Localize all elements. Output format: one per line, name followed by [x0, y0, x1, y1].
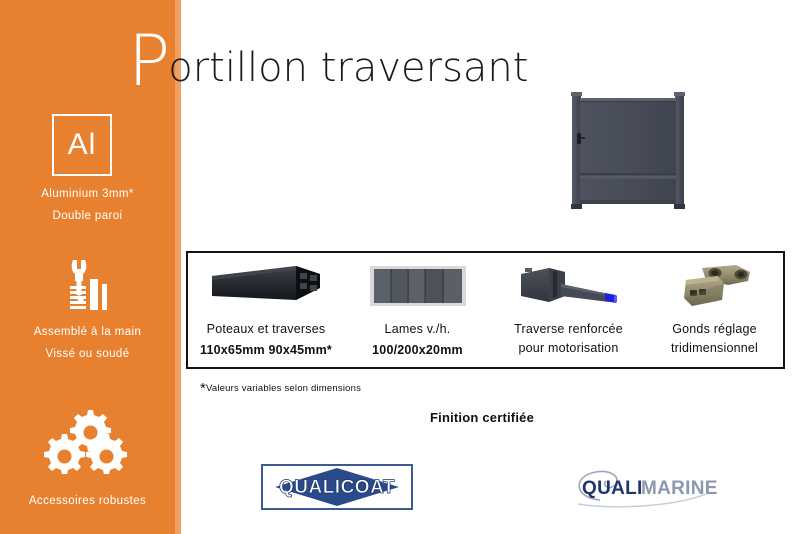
features-panel: Poteaux et traverses 110x65mm 90x45mm*: [186, 251, 785, 369]
feature-item-slats-subtitle: 100/200x20mm: [344, 342, 491, 358]
sidebar-item-aluminium-line1: Aluminium 3mm*: [0, 186, 175, 203]
sidebar-item-aluminium: Aluminium 3mm* Double paroi: [0, 186, 175, 225]
svg-text:QUALICOAT: QUALICOAT: [279, 477, 395, 498]
page-title-initial: P: [128, 26, 170, 96]
sidebar-item-accessories-line1: Accessoires robustes: [0, 493, 175, 510]
svg-text:MARINE: MARINE: [641, 478, 718, 499]
wrench-assembly-icon: [0, 258, 175, 321]
sidebar-item-assembly-line1: Assemblé à la main: [0, 324, 175, 341]
feature-item-hinges-subtitle: tridimensionnel: [646, 340, 783, 356]
feature-item-reinforced-beam-title: Traverse renforcée: [491, 321, 646, 337]
sidebar-item-aluminium-line2: Double paroi: [0, 208, 175, 225]
feature-item-hinges-title: Gonds réglage: [646, 321, 783, 337]
slats-photo: [344, 257, 491, 315]
feature-item-posts-subtitle: 110x65mm 90x45mm*: [188, 342, 344, 358]
feature-item-reinforced-beam-subtitle: pour motorisation: [491, 340, 646, 356]
certified-finish-label: Finition certifiée: [430, 410, 534, 425]
footnote-text: Valeurs variables selon dimensions: [206, 383, 361, 394]
footnote-star: *: [200, 380, 206, 397]
aluminium-box-icon: Al: [52, 114, 112, 176]
feature-item-posts-title: Poteaux et traverses: [188, 321, 344, 337]
svg-text:QUALI: QUALI: [582, 478, 643, 499]
sidebar-item-assembly: Assemblé à la main Vissé ou soudé: [0, 324, 175, 363]
slide-root: Al Aluminium 3mm* Double paroi Assemblé …: [0, 0, 800, 534]
reinforced-beam-motor-photo: [491, 257, 646, 315]
page-title: P ortillon traversant: [128, 22, 528, 84]
sidebar-item-assembly-line2: Vissé ou soudé: [0, 346, 175, 363]
page-title-rest: ortillon traversant: [168, 48, 528, 88]
feature-item-slats-title: Lames v./h.: [344, 321, 491, 337]
footnote: *Valeurs variables selon dimensions: [200, 378, 361, 395]
feature-item-posts: Poteaux et traverses 110x65mm 90x45mm*: [188, 253, 344, 371]
feature-item-hinges: Gonds réglage tridimensionnel: [646, 253, 783, 371]
gears-icon: [0, 408, 175, 479]
aluminium-badge-label: Al: [54, 116, 110, 174]
post-profile-photo: [188, 257, 344, 315]
qualimarine-logo: QUALI MARINE: [556, 464, 721, 510]
hinge-photo: [646, 257, 783, 315]
sidebar-item-accessories: Accessoires robustes: [0, 493, 175, 510]
feature-item-reinforced-beam: Traverse renforcée pour motorisation: [491, 253, 646, 371]
qualicoat-logo: QUALICOAT QUALICOAT: [261, 464, 413, 510]
gate-product-photo: [560, 84, 700, 219]
feature-item-slats: Lames v./h. 100/200x20mm: [344, 253, 491, 371]
